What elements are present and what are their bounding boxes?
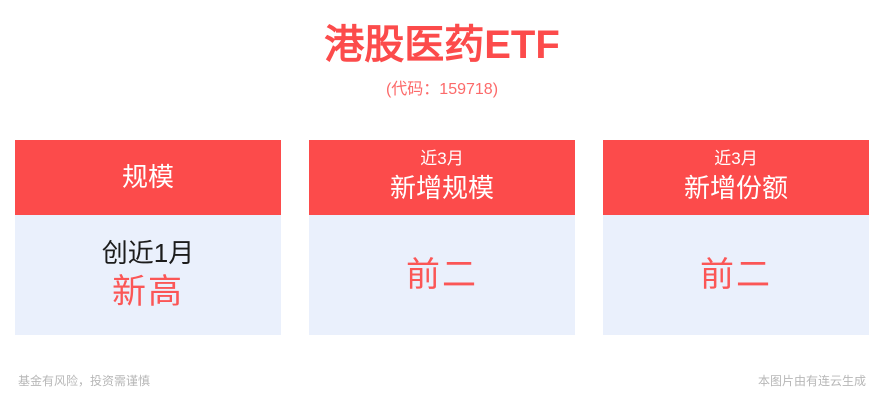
- fund-code-subtitle: (代码：159718): [0, 79, 884, 101]
- risk-disclaimer: 基金有风险，投资需谨慎: [18, 373, 150, 390]
- metric-card-scale-body-main: 新高: [112, 271, 184, 313]
- metric-card-new-scale-body-main: 前二: [406, 254, 478, 296]
- metric-card-new-shares-body-main: 前二: [700, 254, 772, 296]
- metric-card-new-shares-header-main: 新增份额: [684, 171, 788, 206]
- metric-card-new-shares-header: 近3月 新增份额: [603, 140, 869, 215]
- metric-card-new-shares-body: 前二: [603, 215, 869, 335]
- metric-card-scale: 规模 创近1月 新高: [15, 140, 281, 335]
- metric-card-new-scale-header-main: 新增规模: [390, 171, 494, 206]
- metric-card-new-scale-header: 近3月 新增规模: [309, 140, 575, 215]
- metric-card-scale-header-main: 规模: [122, 160, 174, 195]
- metric-card-new-shares: 近3月 新增份额 前二: [603, 140, 869, 335]
- metric-card-new-scale: 近3月 新增规模 前二: [309, 140, 575, 335]
- generator-credit: 本图片由有连云生成: [758, 373, 866, 390]
- metric-card-scale-body: 创近1月 新高: [15, 215, 281, 335]
- metric-card-list: 规模 创近1月 新高 近3月 新增规模 前二 近3月 新增份额: [15, 140, 869, 335]
- metric-card-scale-body-sub: 创近1月: [102, 237, 194, 270]
- page-title: 港股医药ETF: [0, 21, 884, 70]
- metric-card-new-shares-header-sub: 近3月: [714, 148, 757, 171]
- etf-promo-poster: 港股医药ETF (代码：159718) 规模 创近1月 新高 近3月 新增规模 …: [0, 0, 884, 404]
- poster-header: 港股医药ETF (代码：159718): [0, 0, 884, 101]
- metric-card-scale-header: 规模: [15, 140, 281, 215]
- metric-card-new-scale-header-sub: 近3月: [420, 148, 463, 171]
- poster-footer: 基金有风险，投资需谨慎 本图片由有连云生成: [0, 358, 884, 404]
- metric-card-new-scale-body: 前二: [309, 215, 575, 335]
